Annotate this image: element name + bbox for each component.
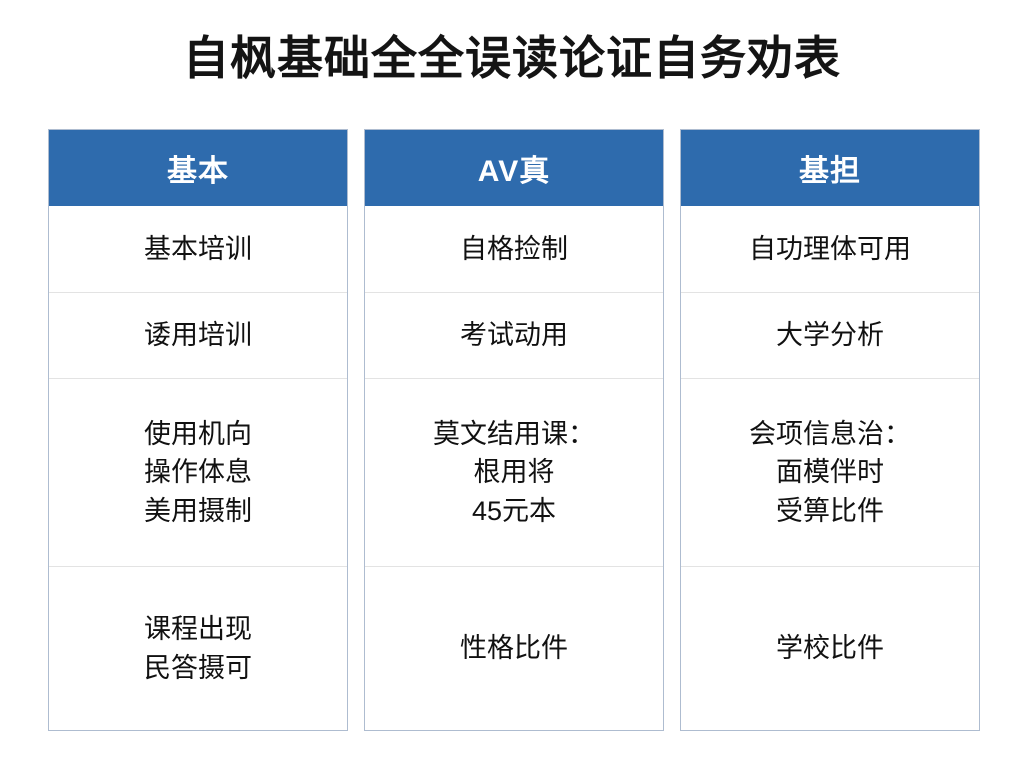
table-cell: 自格捡制 — [365, 206, 663, 292]
table-cell: 学校比件 — [681, 566, 979, 730]
cell-line: 学校比件 — [776, 629, 884, 667]
cell-line: 大学分析 — [776, 316, 884, 354]
cell-line: 美用摄制 — [144, 492, 252, 530]
cell-line: 民答摄可 — [144, 649, 252, 687]
table-cell: 课程出现 民答摄可 — [49, 566, 347, 730]
column-header-1: 基本 — [49, 130, 347, 206]
cell-line: 自格捡制 — [460, 230, 568, 268]
cell-line: 基本培训 — [144, 230, 252, 268]
table-cell: 莫文结用课： 根用将 45元本 — [365, 378, 663, 566]
table-column-3: 基担 自功理体可用 大学分析 会项信息治： 面模伴时 受箅比件 学校比件 — [680, 129, 980, 731]
cell-line: 莫文结用课： — [433, 415, 595, 453]
column-body-3: 自功理体可用 大学分析 会项信息治： 面模伴时 受箅比件 学校比件 — [681, 206, 979, 730]
comparison-table: 基本 基本培训 诿用培训 使用机向 操作体息 美用摄制 课程出现 民答摄可 — [48, 129, 980, 731]
column-body-1: 基本培训 诿用培训 使用机向 操作体息 美用摄制 课程出现 民答摄可 — [49, 206, 347, 730]
table-cell: 大学分析 — [681, 292, 979, 378]
cell-line: 性格比件 — [460, 629, 568, 667]
table-column-2: AV真 自格捡制 考试动用 莫文结用课： 根用将 45元本 性格比件 — [364, 129, 664, 731]
table-cell: 使用机向 操作体息 美用摄制 — [49, 378, 347, 566]
cell-line: 使用机向 — [144, 415, 252, 453]
column-body-2: 自格捡制 考试动用 莫文结用课： 根用将 45元本 性格比件 — [365, 206, 663, 730]
cell-line: 诿用培训 — [144, 316, 252, 354]
table-cell: 考试动用 — [365, 292, 663, 378]
cell-line: 操作体息 — [144, 453, 252, 491]
table-cell: 诿用培训 — [49, 292, 347, 378]
page-title: 自枫基础全全误读论证自务劝表 — [0, 32, 1024, 85]
cell-line: 受箅比件 — [776, 492, 884, 530]
table-cell: 性格比件 — [365, 566, 663, 730]
column-header-3: 基担 — [681, 130, 979, 206]
cell-line: 课程出现 — [144, 610, 252, 648]
cell-line: 45元本 — [472, 492, 556, 530]
table-cell: 基本培训 — [49, 206, 347, 292]
table-cell: 自功理体可用 — [681, 206, 979, 292]
table-column-1: 基本 基本培训 诿用培训 使用机向 操作体息 美用摄制 课程出现 民答摄可 — [48, 129, 348, 731]
cell-line: 会项信息治： — [749, 415, 911, 453]
cell-line: 根用将 — [474, 453, 555, 491]
table-cell: 会项信息治： 面模伴时 受箅比件 — [681, 378, 979, 566]
cell-line: 自功理体可用 — [749, 230, 911, 268]
slide-canvas: 自枫基础全全误读论证自务劝表 基本 基本培训 诿用培训 使用机向 操作体息 美用… — [0, 0, 1024, 768]
cell-line: 考试动用 — [460, 316, 568, 354]
cell-line: 面模伴时 — [776, 453, 884, 491]
column-header-2: AV真 — [365, 130, 663, 206]
